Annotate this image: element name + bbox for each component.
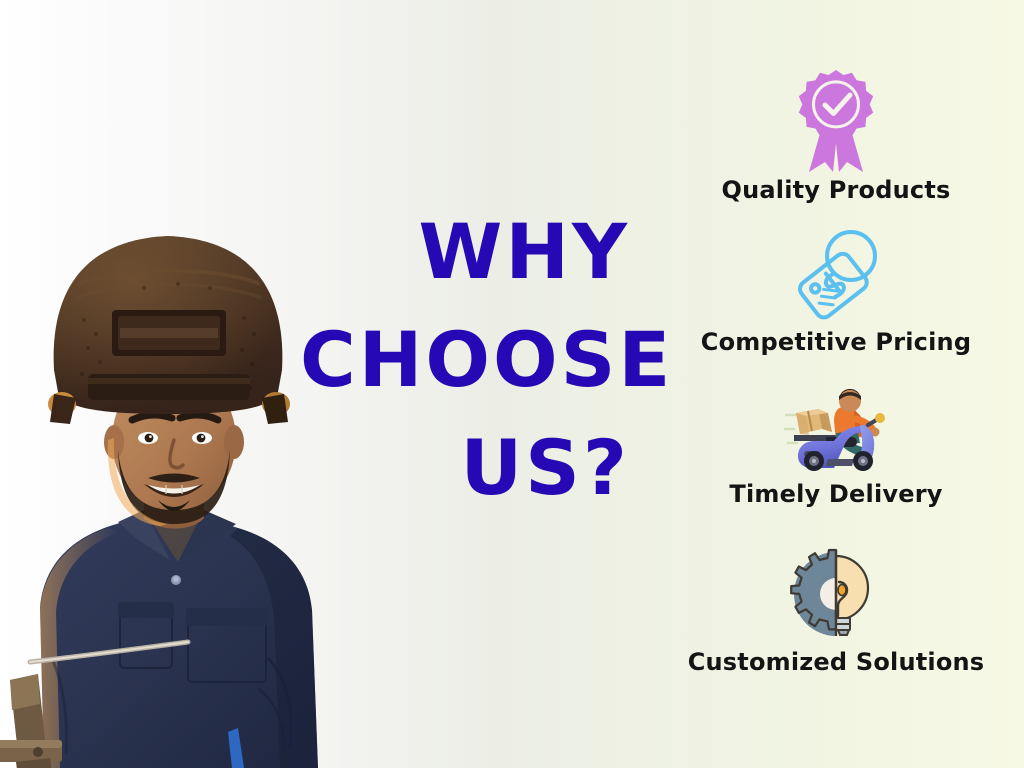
headline-line-3: US? <box>300 414 630 522</box>
feature-label-quality-products: Quality Products <box>648 176 1024 204</box>
feature-item-timely-delivery: Timely Delivery <box>648 378 1024 508</box>
welder-photo <box>0 188 342 768</box>
headline-line-2: CHOOSE <box>300 306 630 414</box>
feature-item-customized-solutions: Customized Solutions <box>648 542 1024 676</box>
delivery-scooter-icon <box>648 378 1024 478</box>
feature-label-timely-delivery: Timely Delivery <box>648 480 1024 508</box>
feature-item-competitive-pricing: Competitive Pricing <box>648 222 1024 356</box>
price-tag-icon <box>648 222 1024 326</box>
feature-list: Quality Products <box>648 0 1024 768</box>
feature-label-customized-solutions: Customized Solutions <box>648 648 1024 676</box>
welder-torso <box>40 510 318 768</box>
headline-line-1: WHY <box>300 198 630 306</box>
feature-item-quality-products: Quality Products <box>648 66 1024 204</box>
award-ribbon-icon <box>648 66 1024 174</box>
page-headline: WHY CHOOSE US? <box>300 198 630 522</box>
feature-label-competitive-pricing: Competitive Pricing <box>648 328 1024 356</box>
welding-helmet <box>48 236 290 424</box>
gear-lightbulb-icon <box>648 542 1024 646</box>
